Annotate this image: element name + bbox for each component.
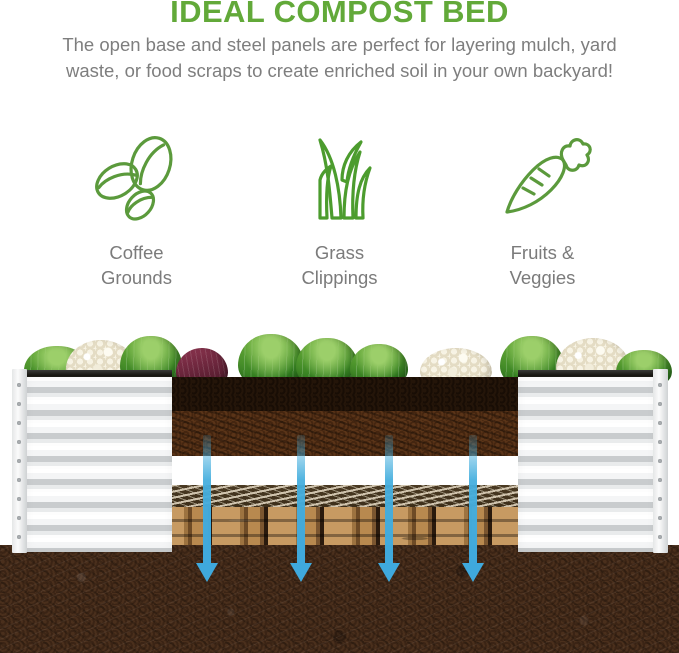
rivet	[17, 497, 21, 501]
feature-label-line2: Grounds	[101, 265, 172, 290]
feature-label-line1: Grass	[301, 240, 377, 265]
rivet	[17, 516, 21, 520]
rivet	[17, 478, 21, 482]
arrow-head	[462, 563, 484, 582]
rivet	[658, 497, 662, 501]
steel-panel-left	[12, 377, 172, 552]
arrow-head	[290, 563, 312, 582]
steel-panel-right	[518, 377, 668, 552]
corrugated-steel-left	[26, 377, 172, 552]
carrot-icon	[493, 128, 593, 228]
grass-blades-icon	[290, 128, 390, 228]
rivet	[658, 459, 662, 463]
flow-arrow	[462, 435, 484, 565]
feature-icon-row: Coffee Grounds Grass Clippings	[0, 128, 679, 293]
arrow-shaft	[203, 435, 211, 565]
corner-post-right	[653, 369, 668, 553]
foreground-soil	[0, 545, 679, 653]
feature-grass-clippings: Grass Clippings	[238, 128, 441, 290]
feature-coffee-grounds: Coffee Grounds	[35, 128, 238, 290]
feature-fruits-veggies: Fruits & Veggies	[441, 128, 644, 290]
rivet	[658, 421, 662, 425]
soil-layer-topsoil	[170, 377, 520, 411]
flow-arrow	[196, 435, 218, 565]
rivet	[658, 535, 662, 539]
rivet	[658, 383, 662, 387]
rivet	[17, 440, 21, 444]
rivet	[658, 478, 662, 482]
feature-label: Coffee Grounds	[101, 240, 172, 290]
feature-label-line2: Clippings	[301, 265, 377, 290]
raised-garden-bed-photo	[0, 330, 679, 653]
feature-label: Fruits & Veggies	[510, 240, 576, 290]
rivet	[17, 402, 21, 406]
rivet	[17, 421, 21, 425]
rivet	[17, 459, 21, 463]
coffee-beans-icon	[87, 128, 187, 228]
arrow-shaft	[385, 435, 393, 565]
arrow-head	[196, 563, 218, 582]
corner-post-left	[12, 369, 27, 553]
arrow-head	[378, 563, 400, 582]
arrow-shaft	[297, 435, 305, 565]
corrugated-steel-right	[518, 377, 655, 552]
feature-label: Grass Clippings	[301, 240, 377, 290]
infographic-page: IDEAL COMPOST BED The open base and stee…	[0, 0, 679, 653]
flow-arrow	[378, 435, 400, 565]
feature-label-line2: Veggies	[510, 265, 576, 290]
rivet	[17, 535, 21, 539]
rivet	[658, 402, 662, 406]
rivet	[17, 383, 21, 387]
rivet	[658, 440, 662, 444]
feature-label-line1: Fruits &	[510, 240, 576, 265]
rivet	[658, 516, 662, 520]
page-title: IDEAL COMPOST BED	[0, 0, 679, 30]
page-subtitle: The open base and steel panels are perfe…	[50, 32, 630, 84]
flow-arrow	[290, 435, 312, 565]
arrow-shaft	[469, 435, 477, 565]
feature-label-line1: Coffee	[101, 240, 172, 265]
